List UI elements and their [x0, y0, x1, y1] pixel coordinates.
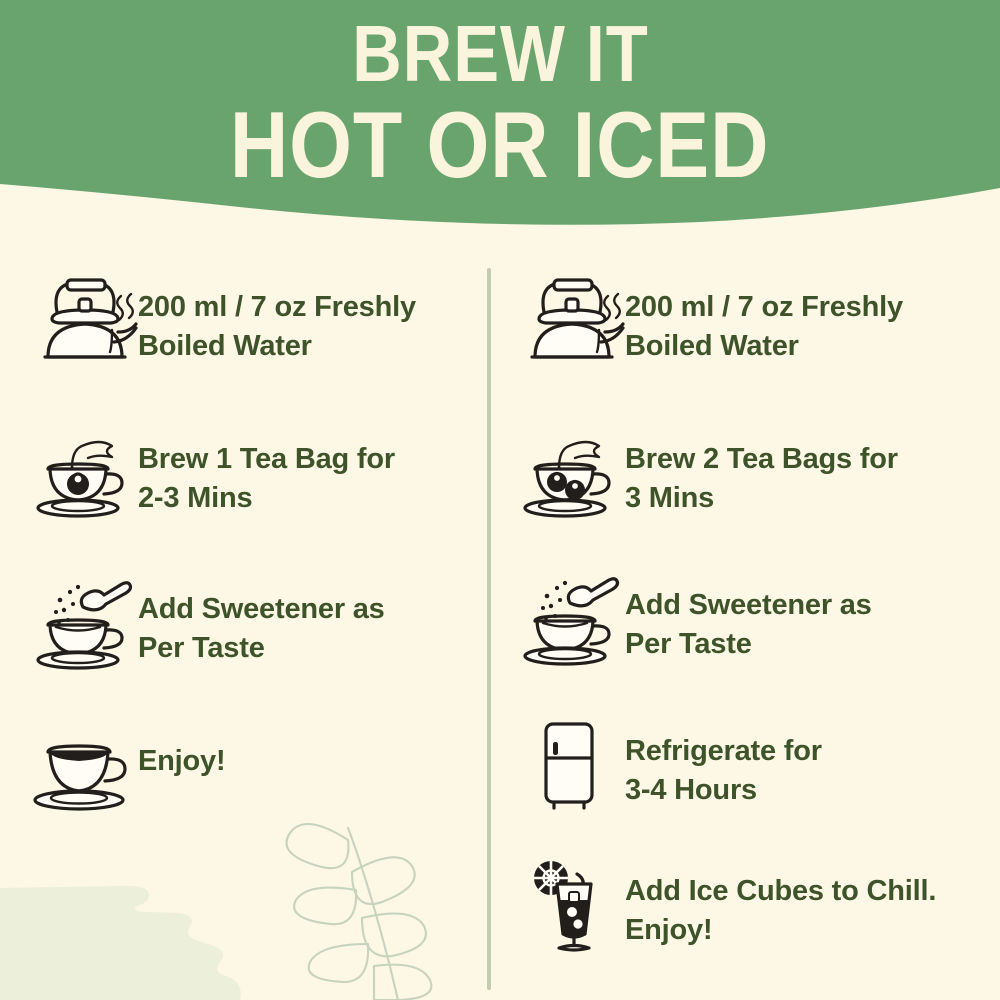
- page-title-line-1: BREW IT: [352, 14, 648, 94]
- step-text: 200 ml / 7 oz Freshly Boiled Water: [138, 272, 416, 366]
- teacup-two-teabags-icon: [513, 424, 625, 520]
- step-line-1: Brew 1 Tea Bag for: [138, 443, 395, 475]
- step-line-1: Refrigerate for: [625, 735, 822, 767]
- list-item: 200 ml / 7 oz Freshly Boiled Water: [26, 272, 416, 368]
- step-text: Add Sweetener as Per Taste: [625, 570, 872, 664]
- page-title-line-2: HOT OR ICED: [230, 98, 769, 192]
- list-item: Add Sweetener as Per Taste: [513, 570, 872, 666]
- step-text: Refrigerate for 3-4 Hours: [625, 716, 822, 810]
- column-divider: [487, 268, 491, 990]
- step-line-1: Add Sweetener as: [625, 589, 872, 621]
- step-text: Enjoy!: [138, 726, 225, 781]
- step-line-2: Boiled Water: [138, 327, 416, 366]
- list-item: Add Ice Cubes to Chill. Enjoy!: [513, 856, 936, 952]
- step-line-1: Enjoy!: [138, 745, 225, 777]
- list-item: 200 ml / 7 oz Freshly Boiled Water: [513, 272, 903, 368]
- step-line-2: 3 Mins: [625, 479, 898, 518]
- kettle-icon: [26, 272, 138, 368]
- step-line-1: Brew 2 Tea Bags for: [625, 443, 898, 475]
- steps-area: 200 ml / 7 oz Freshly Boiled Water: [0, 248, 1000, 988]
- iced-drink-glass-icon: [513, 856, 625, 952]
- kettle-icon: [513, 272, 625, 368]
- step-line-1: Add Ice Cubes to Chill.: [625, 875, 936, 907]
- step-text: Brew 2 Tea Bags for 3 Mins: [625, 424, 898, 518]
- step-line-1: Add Sweetener as: [138, 593, 385, 625]
- list-item: Enjoy!: [26, 726, 225, 822]
- step-line-1: 200 ml / 7 oz Freshly: [625, 291, 903, 323]
- step-line-2: Per Taste: [138, 629, 385, 668]
- teacup-one-teabag-icon: [26, 424, 138, 520]
- list-item: Brew 2 Tea Bags for 3 Mins: [513, 424, 898, 520]
- sweetener-spoon-cup-icon: [513, 570, 625, 666]
- list-item: Add Sweetener as Per Taste: [26, 574, 385, 670]
- step-text: 200 ml / 7 oz Freshly Boiled Water: [625, 272, 903, 366]
- step-line-2: 3-4 Hours: [625, 771, 822, 810]
- step-text: Brew 1 Tea Bag for 2-3 Mins: [138, 424, 395, 518]
- step-text: Add Ice Cubes to Chill. Enjoy!: [625, 856, 936, 950]
- list-item: Brew 1 Tea Bag for 2-3 Mins: [26, 424, 395, 520]
- teacup-icon: [26, 726, 138, 822]
- step-line-1: 200 ml / 7 oz Freshly: [138, 291, 416, 323]
- step-text: Add Sweetener as Per Taste: [138, 574, 385, 668]
- step-line-2: Enjoy!: [625, 911, 936, 950]
- infographic-card: BREW IT HOT OR ICED: [0, 0, 1000, 1000]
- refrigerator-icon: [513, 716, 625, 812]
- list-item: Refrigerate for 3-4 Hours: [513, 716, 822, 812]
- step-line-2: Per Taste: [625, 625, 872, 664]
- step-line-2: 2-3 Mins: [138, 479, 395, 518]
- sweetener-spoon-cup-icon: [26, 574, 138, 670]
- step-line-2: Boiled Water: [625, 327, 903, 366]
- header-banner: BREW IT HOT OR ICED: [0, 0, 1000, 230]
